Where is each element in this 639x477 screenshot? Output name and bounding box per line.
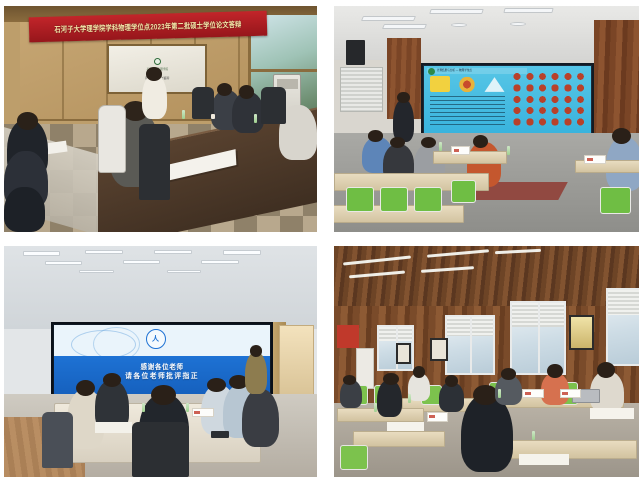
ceiling-light [427,250,489,258]
water-bottle [498,389,501,398]
person-head [413,366,425,378]
slide-callout [430,76,450,91]
person-head [146,67,162,81]
led-display-wall: 计算结果与分析 — 物理学位点 [421,63,594,138]
red-wall-banner [337,325,359,348]
grid-cell [562,117,574,127]
person-head [76,380,95,396]
slide-body-text [430,96,505,128]
grid-cell [524,95,536,105]
ceiling-light [154,250,192,254]
grid-cell [575,83,587,93]
slide-logo-icon [428,68,435,75]
grid-cell [524,72,536,82]
ceiling-light [45,261,83,265]
smoke-detector-icon [510,22,525,26]
documents-stack [387,422,424,431]
classroom-chair [451,180,476,203]
documents-stack [95,422,133,434]
ceiling-light [361,16,416,21]
framed-poster [569,315,594,350]
university-logo-icon [154,58,161,65]
grid-cell [511,83,523,93]
ceiling-light [79,270,113,274]
classroom-chair [346,187,374,212]
person-seated [377,380,402,417]
person-head [383,373,398,385]
window-mullion [470,317,472,373]
ceiling-light [349,271,405,279]
grid-cell [575,72,587,82]
person-seated [4,187,45,232]
structure-grid [510,71,587,129]
water-bottle [142,403,145,412]
ceiling-light [503,8,554,13]
classroom-chair [600,187,631,214]
grid-cell [549,106,561,116]
person-standing [245,352,267,394]
office-chair [261,87,286,123]
window [606,288,639,367]
ceiling-light [167,270,201,274]
water-bottle [507,146,510,155]
molecule-diagram [455,76,478,92]
name-placard [522,389,544,398]
person-head [612,128,631,144]
window [445,315,494,375]
person-head [103,373,122,387]
documents-stack [519,454,568,466]
name-placard [451,146,470,155]
grid-cell [511,117,523,127]
office-chair [42,412,73,467]
grid-cell [537,106,549,116]
name-placard [427,412,449,421]
student-desk [433,151,507,165]
grid-cell [562,83,574,93]
triangle-lattice-diagram [484,76,506,92]
grid-cell [524,117,536,127]
ceiling-light [429,9,483,14]
office-chair [139,124,170,201]
classroom-chair [380,187,408,212]
grid-cell [562,95,574,105]
ceiling [4,246,317,334]
grid-cell [562,72,574,82]
documents-stack [590,408,633,420]
presentation-slide: 计算结果与分析 — 物理学位点 [424,66,591,135]
person-head [597,362,616,378]
grid-cell [511,106,523,116]
smartphone [211,431,230,438]
wood-slat-ceiling [334,246,639,311]
person-standing-presenter [142,74,167,119]
window-blind [340,67,383,112]
photo-top-right: 计算结果与分析 — 物理学位点 [334,6,639,232]
name-placard [560,389,582,398]
grid-cell [575,106,587,116]
framed-picture [430,338,449,361]
grid-cell [524,83,536,93]
person-seated-foreground [461,394,514,473]
grid-cell [575,117,587,127]
slide-header-text: 计算结果与分析 — 物理学位点 [437,68,472,72]
grid-cell [537,95,549,105]
photo-collage: 石河子大学理学院学科物理学位点2023年第二批硕士学位论文答辩 石河子大学 理学… [0,0,639,477]
framed-picture [396,343,411,364]
person-head [397,92,409,103]
person-head [239,85,255,99]
water-bottle [182,110,185,119]
water-bottle [254,114,257,123]
grid-cell [562,106,574,116]
person-head [368,130,383,141]
window-blind [608,290,639,315]
ceiling-light [23,251,61,255]
ceiling-light [420,266,473,273]
person-head [207,378,226,392]
water-bottle [374,403,377,412]
grid-cell [549,83,561,93]
person-seated [242,389,280,447]
person-head [547,364,562,378]
grid-cell [575,95,587,105]
grid-cell [549,117,561,127]
ceiling-light [382,24,427,29]
grid-cell [511,95,523,105]
name-placard [192,408,214,417]
classroom-chair [414,187,442,212]
ceiling-light [223,250,261,254]
person-head [343,375,355,384]
banner-text: 石河子大学理学院学科物理学位点2023年第二批硕士学位论文答辩 [54,18,241,34]
water-bottle [186,403,189,412]
grid-cell [537,117,549,127]
university-logo-icon: 人 [146,329,166,349]
window [279,325,313,399]
smoke-detector-icon [451,23,466,27]
grid-cell [524,106,536,116]
water-bottle [439,142,442,151]
person-head [445,375,457,387]
water-bottle [408,394,411,403]
name-placard [584,155,606,164]
person-standing-presenter [393,99,415,142]
window-mullion [538,303,540,373]
wall-speaker [346,40,365,65]
person-head [250,345,263,357]
photo-bottom-right [334,246,639,477]
ceiling-light [85,250,123,254]
logo-glyph: 人 [152,334,159,344]
ceiling-light [123,260,161,264]
office-chair [132,422,188,477]
paper-cup [211,114,215,119]
photo-top-left: 石河子大学理学院学科物理学位点2023年第二批硕士学位论文答辩 石河子大学 理学… [4,6,317,232]
grid-cell [537,72,549,82]
classroom-chair [340,445,368,470]
office-chair [98,105,126,173]
ceiling-light [343,255,411,265]
ceiling-light [201,260,239,264]
grid-cell [537,83,549,93]
photo-bottom-left: 人 感谢各位老师 请各位老师批评指正 [4,246,317,477]
ceiling-light [495,249,541,254]
grid-cell [511,72,523,82]
water-bottle [532,431,535,440]
grid-cell [549,72,561,82]
grid-cell [549,95,561,105]
